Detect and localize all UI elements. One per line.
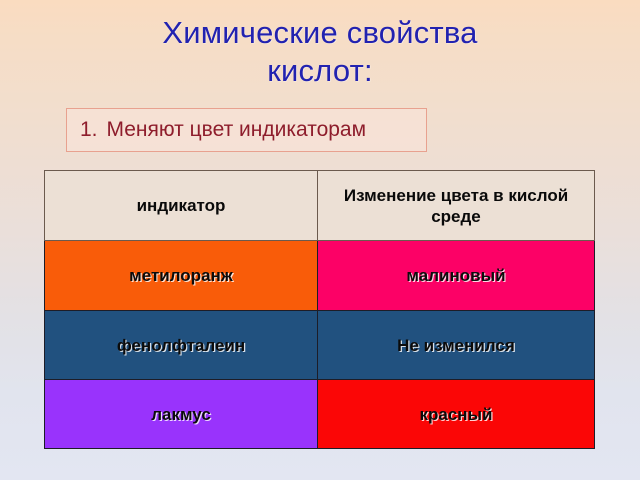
- table-row: метилоранж малиновый: [45, 241, 595, 311]
- cell-indicator-methyl-orange: метилоранж: [45, 241, 318, 311]
- table-header-change: Изменение цвета в кислой среде: [318, 171, 595, 241]
- table-row: фенолфталеин Не изменился: [45, 311, 595, 380]
- cell-change-litmus: красный: [318, 380, 595, 449]
- slide-canvas: Химические свойства кислот: 1.Меняют цве…: [0, 0, 640, 480]
- cell-indicator-phenolphthalein: фенолфталеин: [45, 311, 318, 380]
- table-row: лакмус красный: [45, 380, 595, 449]
- table-header-row: индикатор Изменение цвета в кислой среде: [45, 171, 595, 241]
- indicator-color-table: индикатор Изменение цвета в кислой среде…: [44, 170, 595, 449]
- table-header-indicator: индикатор: [45, 171, 318, 241]
- cell-change-phenolphthalein: Не изменился: [318, 311, 595, 380]
- list-item-1: 1.Меняют цвет индикаторам: [80, 117, 600, 143]
- cell-indicator-litmus: лакмус: [45, 380, 318, 449]
- page-title: Химические свойства кислот:: [0, 14, 640, 90]
- list-item-1-label: Меняют цвет индикаторам: [107, 118, 367, 141]
- list-item-1-number: 1.: [80, 118, 98, 141]
- cell-change-methyl-orange: малиновый: [318, 241, 595, 311]
